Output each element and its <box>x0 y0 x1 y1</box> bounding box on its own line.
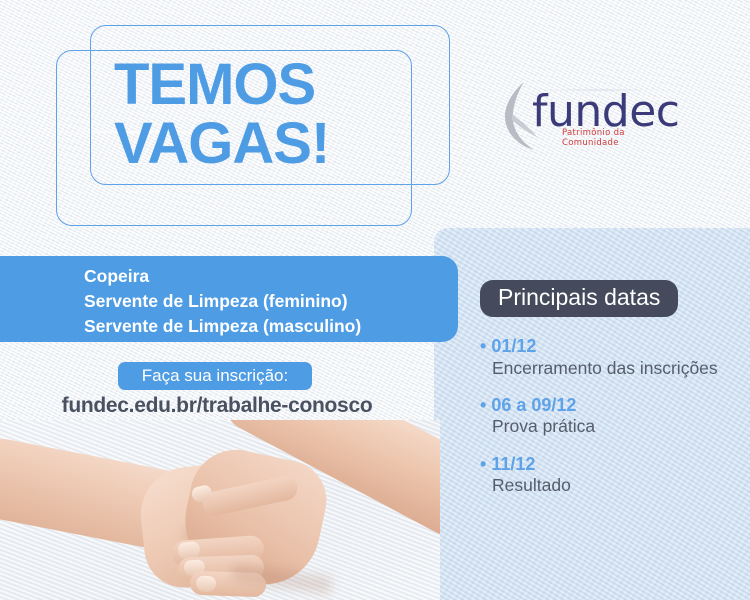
date-value: 01/12 <box>491 336 536 356</box>
headline-line-2: VAGAS! <box>114 114 474 173</box>
date-description: Resultado <box>492 475 720 496</box>
inscription-pill: Faça sua inscrição: <box>118 362 312 390</box>
date-value: 06 a 09/12 <box>491 395 576 415</box>
jobs-list: Copeira Servente de Limpeza (feminino) S… <box>84 264 464 339</box>
fundec-logo: fundec Patrimônio da Comunidade <box>500 80 680 155</box>
job-item: Copeira <box>84 264 464 289</box>
bullet-icon: • <box>480 395 486 415</box>
job-item: Servente de Limpeza (masculino) <box>84 314 464 339</box>
date-heading: •01/12 <box>480 335 720 358</box>
date-item: •11/12 Resultado <box>480 453 720 497</box>
bullet-icon: • <box>480 454 486 474</box>
date-item: •06 a 09/12 Prova prática <box>480 394 720 438</box>
date-item: •01/12 Encerramento das inscrições <box>480 335 720 379</box>
date-heading: •06 a 09/12 <box>480 394 720 417</box>
dates-list: •01/12 Encerramento das inscrições •06 a… <box>480 335 720 512</box>
date-value: 11/12 <box>491 454 535 474</box>
date-description: Encerramento das inscrições <box>492 358 720 379</box>
dates-badge-title: Principais datas <box>480 280 678 317</box>
handshake-photo <box>0 420 440 600</box>
job-item: Servente de Limpeza (feminino) <box>84 289 464 314</box>
inscription-url[interactable]: fundec.edu.br/trabalhe-conosco <box>0 394 434 418</box>
headline-line-1: TEMOS <box>114 52 315 117</box>
date-description: Prova prática <box>492 416 720 437</box>
date-heading: •11/12 <box>480 453 720 476</box>
poster-headline: TEMOS VAGAS! <box>114 55 474 173</box>
poster-canvas: TEMOS VAGAS! fundec Patrimônio da Comuni… <box>0 0 750 600</box>
fundec-tagline: Patrimônio da Comunidade <box>562 128 680 148</box>
bullet-icon: • <box>480 336 486 356</box>
